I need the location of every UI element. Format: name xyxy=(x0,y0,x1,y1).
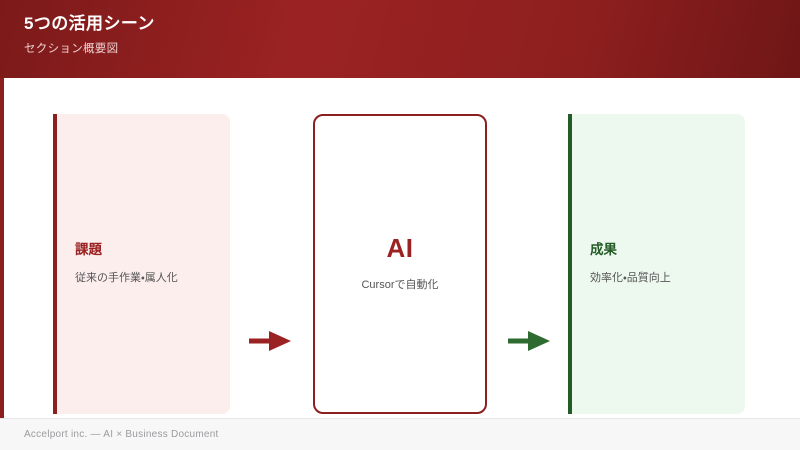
footer-text: Accelport inc. — AI × Business Document xyxy=(24,429,219,440)
card-result: 成果 効率化・品質向上 xyxy=(568,114,745,414)
page-title: 5つの活用シーン xyxy=(24,13,800,34)
card-ai-title: AI xyxy=(387,235,414,261)
diagram-stage: 課題 従来の手作業・属人化 AI Cursorで自動化 成果 効率化・品質向上 xyxy=(0,78,800,417)
card-result-description: 効率化・品質向上 xyxy=(590,271,745,285)
card-problem: 課題 従来の手作業・属人化 xyxy=(53,114,230,414)
slide-canvas: 5つの活用シーン セクション概要図 課題 従来の手作業・属人化 AI Curso… xyxy=(0,0,800,450)
page-subtitle: セクション概要図 xyxy=(24,43,800,57)
slide-header: 5つの活用シーン セクション概要図 xyxy=(0,0,800,78)
card-result-title: 成果 xyxy=(590,242,745,258)
card-ai-center: AI Cursorで自動化 xyxy=(313,114,487,414)
arrow-right-icon-problem-to-ai xyxy=(249,330,291,352)
card-ai-description: Cursorで自動化 xyxy=(361,278,438,292)
slide-footer: Accelport inc. — AI × Business Document xyxy=(0,418,800,450)
card-problem-description: 従来の手作業・属人化 xyxy=(75,271,230,285)
card-problem-title: 課題 xyxy=(75,242,230,258)
arrow-right-icon-ai-to-result xyxy=(508,330,550,352)
